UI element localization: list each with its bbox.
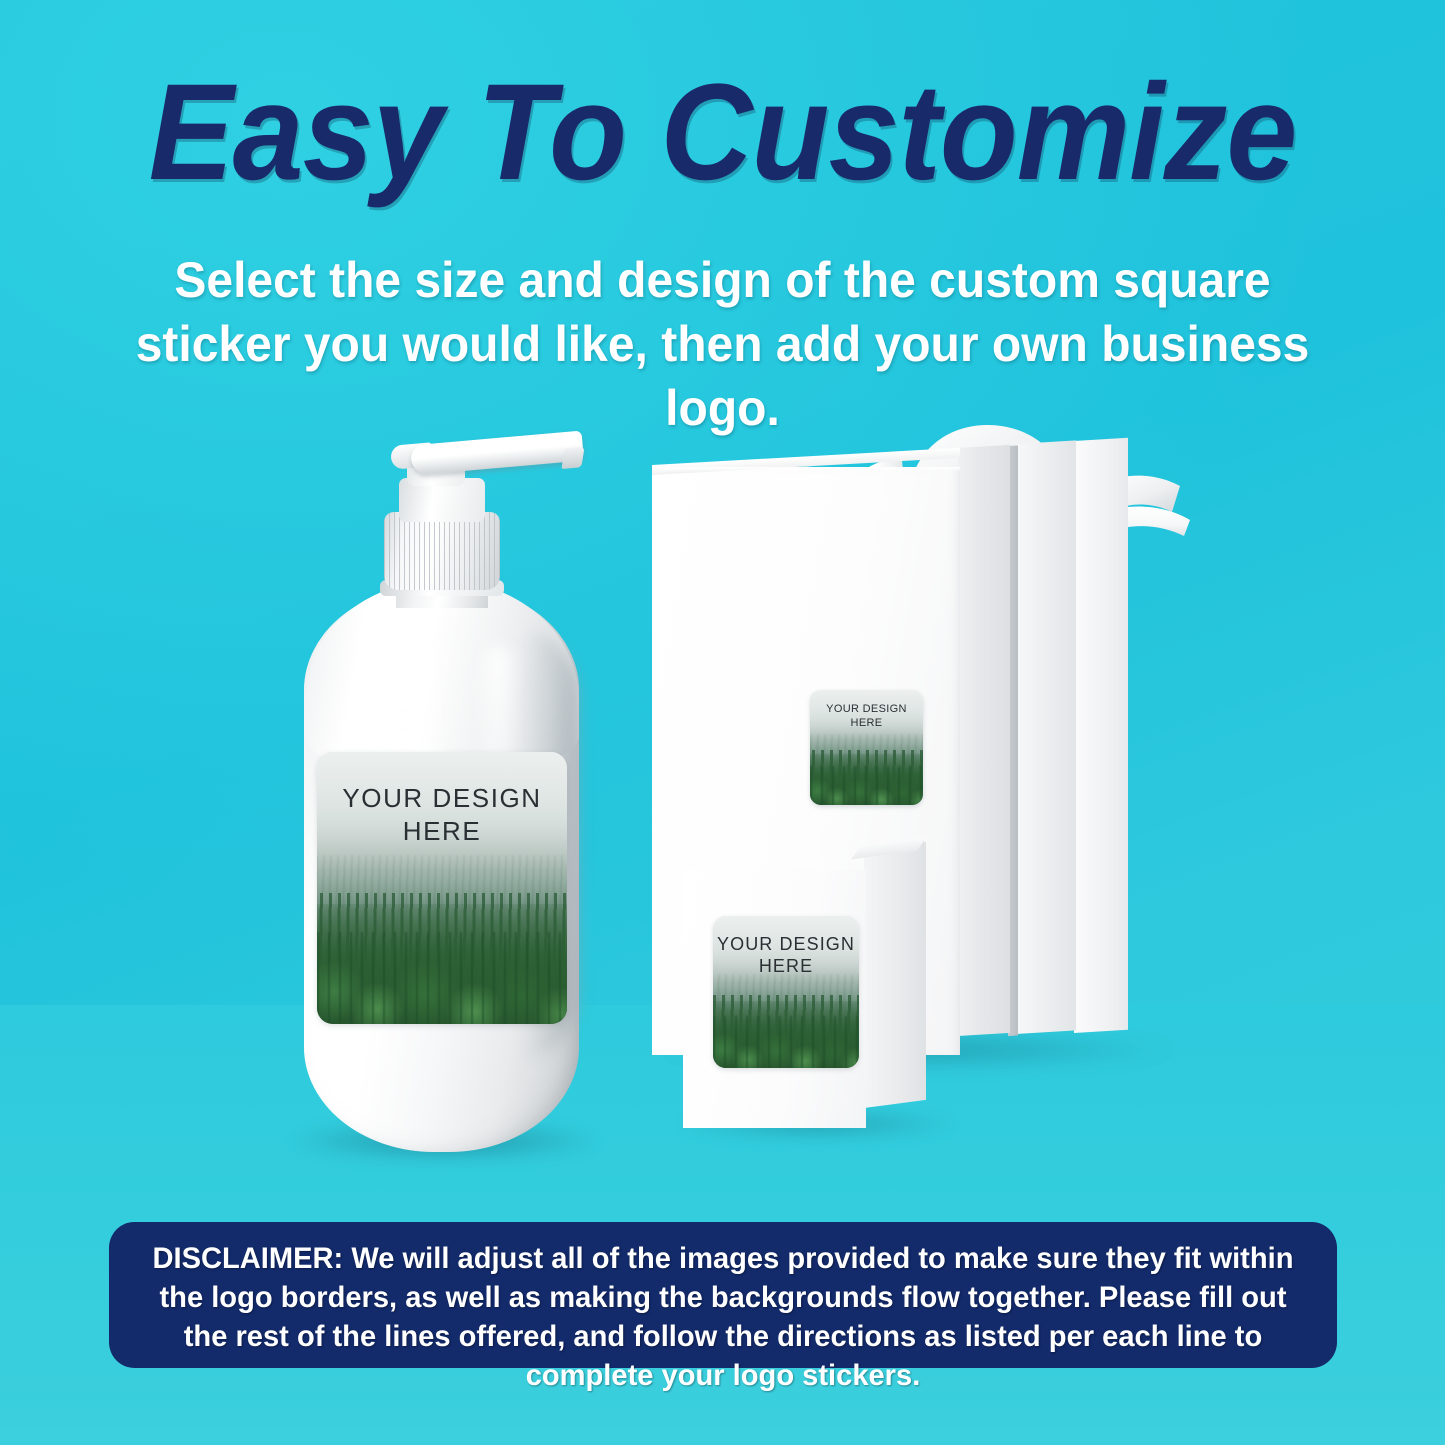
gift-box-side-panel-3: [1074, 438, 1128, 1033]
forest-artwork: YOUR DESIGN HERE: [713, 916, 859, 1068]
forest-trees: [317, 932, 567, 1024]
gift-box-side-panel-2: [1016, 440, 1076, 1034]
gift-box-edge-highlight: [652, 467, 960, 472]
forest-trees: [810, 766, 923, 805]
sticker-caption: YOUR DESIGN HERE: [317, 782, 567, 848]
disclaimer-label: DISCLAIMER:: [152, 1242, 343, 1275]
pump-collar-ribbed: [384, 512, 500, 590]
sticker-caption-line2: HERE: [713, 955, 859, 978]
small-box-sticker: YOUR DESIGN HERE: [713, 916, 859, 1068]
sticker-caption-line2: HERE: [317, 815, 567, 848]
forest-artwork: YOUR DESIGN HERE: [317, 752, 567, 1024]
forest-artwork: YOUR DESIGN HERE: [810, 690, 923, 805]
sticker-caption: YOUR DESIGN HERE: [810, 703, 923, 731]
small-box-mockup: YOUR DESIGN HERE: [683, 850, 953, 1145]
disclaimer-banner: DISCLAIMER: We will adjust all of the im…: [109, 1222, 1337, 1368]
sticker-caption: YOUR DESIGN HERE: [713, 933, 859, 978]
small-box-side-panel: [864, 842, 926, 1108]
sticker-caption-line2: HERE: [810, 717, 923, 731]
gift-box-sticker: YOUR DESIGN HERE: [810, 690, 923, 805]
pump-bottle-mockup: YOUR DESIGN HERE: [287, 430, 597, 1190]
pump-nozzle-tip: [561, 447, 584, 469]
gift-box-side-panel-1: [958, 445, 1010, 1036]
sticker-caption-line1: YOUR DESIGN: [713, 933, 859, 956]
pump-nozzle: [410, 431, 584, 476]
sticker-caption-line1: YOUR DESIGN: [810, 703, 923, 717]
forest-trees: [713, 1016, 859, 1068]
bottle-sticker-label: YOUR DESIGN HERE: [317, 752, 567, 1024]
sticker-caption-line1: YOUR DESIGN: [317, 782, 567, 815]
